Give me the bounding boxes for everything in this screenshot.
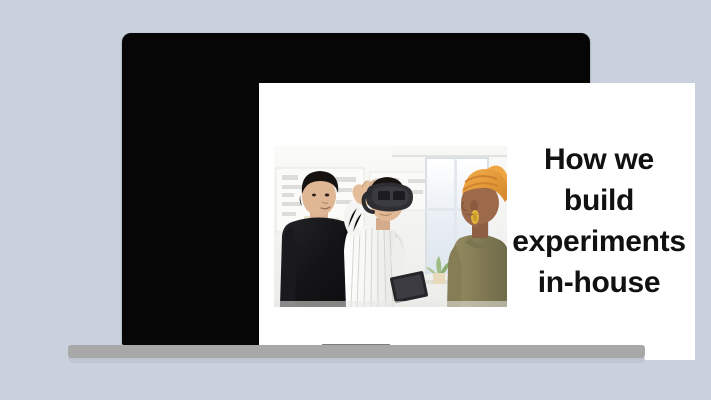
slide-title-line: experiments — [503, 221, 695, 262]
slide-mockup-canvas: How we build experiments in-house — [0, 0, 711, 400]
slide-photo — [274, 146, 507, 307]
slide-title: How we build experiments in-house — [503, 139, 695, 303]
presentation-slide: How we build experiments in-house — [259, 83, 695, 360]
office-vr-photo-illustration — [274, 146, 507, 307]
laptop-screen: How we build experiments in-house — [259, 83, 695, 360]
slide-title-line: in-house — [503, 262, 695, 303]
slide-title-line: How we — [503, 139, 695, 180]
laptop-lid-bezel: How we build experiments in-house — [122, 33, 590, 345]
slide-title-line: build — [503, 180, 695, 221]
laptop-mockup: How we build experiments in-house — [0, 0, 711, 400]
laptop-base-edge — [68, 358, 645, 363]
